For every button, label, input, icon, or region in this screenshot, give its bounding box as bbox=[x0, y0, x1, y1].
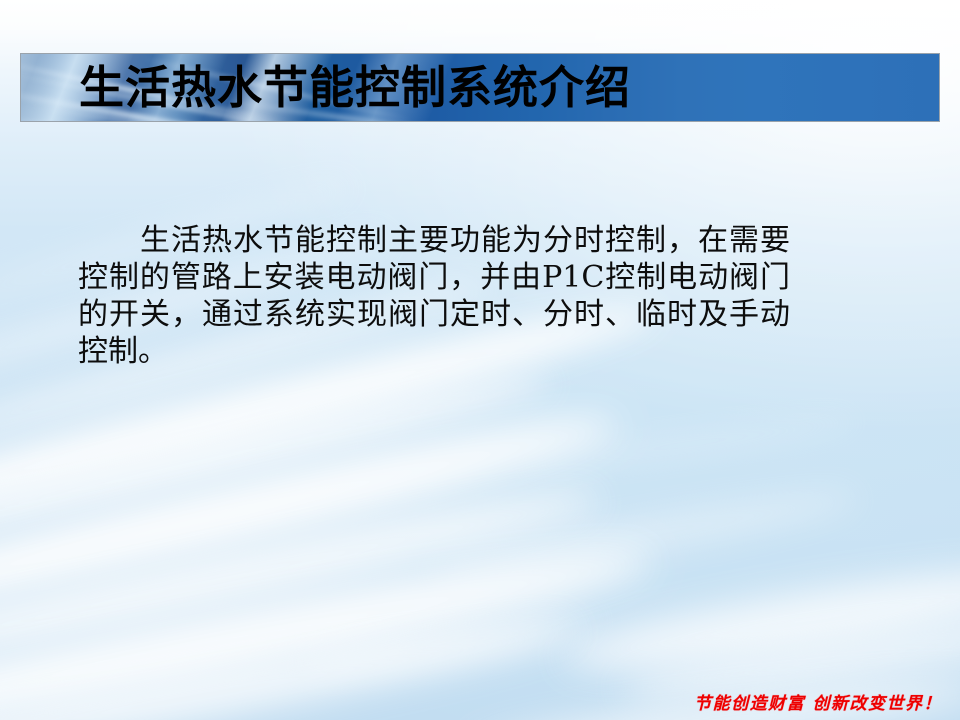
slide-title: 生活热水节能控制系统介绍 bbox=[79, 65, 631, 110]
title-banner: 生活热水节能控制系统介绍 bbox=[20, 53, 940, 122]
slide-body-text: 生活热水节能控制主要功能为分时控制，在需要控制的管路上安装电动阀门，并由P1C控… bbox=[78, 222, 790, 370]
banner-light-streak bbox=[20, 114, 239, 122]
footer-slogan: 节能创造财富 创新改变世界！ bbox=[694, 694, 942, 714]
presentation-slide: 生活热水节能控制系统介绍 生活热水节能控制主要功能为分时控制，在需要控制的管路上… bbox=[0, 0, 960, 720]
